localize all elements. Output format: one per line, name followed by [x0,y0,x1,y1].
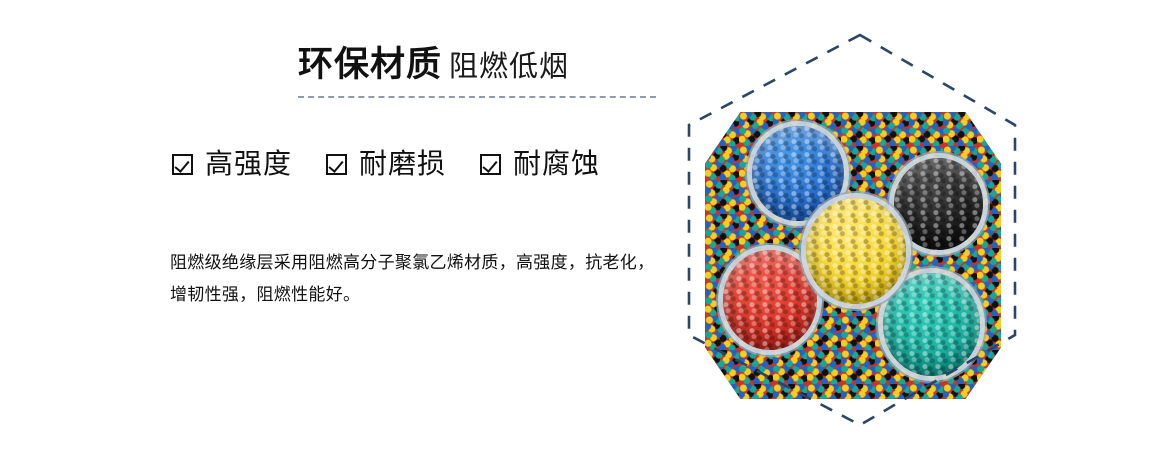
yellow-pellet-jar [806,198,907,304]
feature-item-corrosion-resistance: 耐腐蚀 [480,150,600,178]
black-pellet-jar [894,158,983,250]
title-primary: 环保材质 [298,45,442,84]
teal-pellet-jar [883,273,981,376]
red-pellet-jar [723,250,818,350]
title-divider [298,96,656,98]
hexagon-media-frame [687,33,1017,427]
page-title: 环保材质阻燃低烟 [298,47,569,82]
feature-list: 高强度 耐磨损 耐腐蚀 [172,150,600,178]
feature-label: 耐腐蚀 [513,150,600,178]
content-column: 环保材质阻燃低烟 高强度 耐磨损 耐腐蚀 阻燃级绝缘层采用阻燃高分子聚氯乙烯材质… [0,0,680,452]
pellet-photo [705,112,1001,399]
description-text: 阻燃级绝缘层采用阻燃高分子聚氯乙烯材质，高强度，抗老化，增韧性强，阻燃性能好。 [170,247,670,311]
feature-item-strength: 高强度 [172,150,292,178]
feature-label: 高强度 [205,150,292,178]
checkbox-checked-icon [172,154,193,175]
feature-label: 耐磨损 [359,150,446,178]
promo-banner: 环保材质阻燃低烟 高强度 耐磨损 耐腐蚀 阻燃级绝缘层采用阻燃高分子聚氯乙烯材质… [0,0,1169,452]
title-secondary: 阻燃低烟 [449,51,569,83]
feature-item-wear-resistance: 耐磨损 [326,150,446,178]
checkbox-checked-icon [326,154,347,175]
checkbox-checked-icon [480,154,501,175]
